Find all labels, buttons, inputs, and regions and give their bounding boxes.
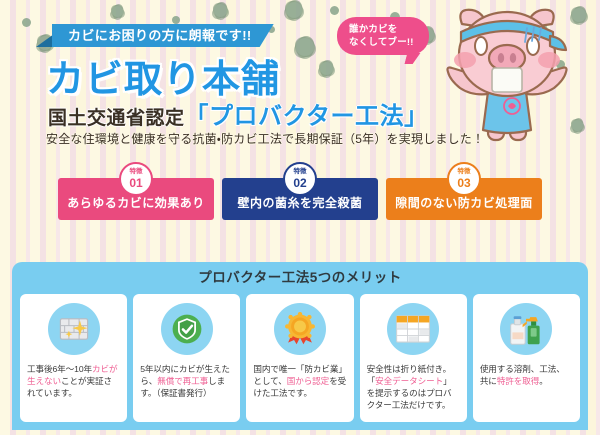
hero-subtitle: 国土交通省認定 「プロバクター工法」 [48, 96, 429, 131]
merit-card-text: 国内で唯一「防カビ業」として、国から認定を受けた工法です。 [253, 363, 346, 399]
ribbon-tail-decoration [36, 34, 54, 47]
merits-panel: プロバクター工法5つのメリット 工事後6年～10年カビが生えないことが実証されて… [12, 262, 588, 430]
feature-badges-row: 特徴 01 あらゆるカビに効果あり 特徴 02 壁内の菌糸を完全殺菌 特徴 03… [0, 168, 600, 230]
feature-badge-03: 特徴 03 [447, 162, 481, 196]
feature-label: 壁内の菌糸を完全殺菌 [237, 194, 362, 211]
feature-badge-02: 特徴 02 [283, 162, 317, 196]
feature-badge-number: 03 [457, 177, 470, 189]
shield-check-icon [161, 303, 213, 355]
merit-card[interactable]: 安全性は折り紙付き。「安全データシート」を提示するのはプロバクター工法だけです。 [360, 294, 467, 422]
feature-card-01[interactable]: 特徴 01 あらゆるカビに効果あり [58, 178, 214, 220]
feature-label: 隙間のない防カビ処理面 [395, 194, 533, 211]
data-sheet-icon [387, 303, 439, 355]
mold-spot [286, 2, 302, 18]
speech-bubble-line-1: 誰かカビを [349, 23, 429, 36]
merit-text-highlight: 無償で再工事 [157, 376, 208, 386]
feature-badge-kicker: 特徴 [294, 169, 307, 176]
subtitle-government-text: 国土交通省認定 [48, 103, 185, 130]
merit-card[interactable]: 5年以内にカビが生えたら、無償で再工事します。（保証書発行） [133, 294, 240, 422]
speech-bubble-line-2: なくしてブー!! [349, 36, 429, 49]
feature-label: あらゆるカビに効果あり [67, 194, 205, 211]
merits-heading: プロバクター工法5つのメリット [12, 262, 588, 294]
merit-card-text: 安全性は折り紙付き。「安全データシート」を提示するのはプロバクター工法だけです。 [367, 363, 460, 411]
mold-spot [112, 6, 123, 17]
mold-spot [172, 16, 180, 24]
merit-text-highlight: 安全データシート [375, 376, 443, 386]
mold-spot [22, 18, 31, 27]
feature-card-02[interactable]: 特徴 02 壁内の菌糸を完全殺菌 [222, 178, 378, 220]
merit-card[interactable]: 工事後6年～10年カビが生えないことが実証されています。 [20, 294, 127, 422]
merit-card-text: 使用する溶剤、工法、共に特許を取得。 [480, 363, 573, 387]
subtitle-method-text: 「プロバクター工法」 [185, 96, 429, 131]
feature-badge-kicker: 特徴 [130, 169, 143, 176]
spray-bottle-icon [500, 303, 552, 355]
page-root: カビにお困りの方に朗報です!! カビ取り本舗 国土交通省認定 「プロバクター工法… [0, 0, 600, 435]
feature-badge-01: 特徴 01 [119, 162, 153, 196]
merit-text-highlight: 国から認定 [287, 376, 329, 386]
pig-mascot [432, 2, 582, 160]
mold-spot [330, 6, 339, 15]
merit-card[interactable]: 国内で唯一「防カビ業」として、国から認定を受けた工法です。 [246, 294, 353, 422]
hero-lead-text: 安全な住環境と健康を守る抗菌・防カビ工法で長期保証（5年）を実現しました！ [46, 130, 484, 147]
mold-spot [214, 4, 227, 17]
feature-badge-number: 01 [129, 177, 142, 189]
merit-text-plain: 。 [539, 376, 548, 386]
merit-cards-row: 工事後6年～10年カビが生えないことが実証されています。 5年以内にカビが生えた… [12, 294, 588, 422]
merit-card[interactable]: 使用する溶剤、工法、共に特許を取得。 [473, 294, 580, 422]
feature-badge-number: 02 [293, 177, 306, 189]
hero-ribbon-banner: カビにお困りの方に朗報です!! [52, 24, 274, 47]
page-title: カビ取り本舗 [46, 48, 280, 103]
brick-wall-sparkle-icon [48, 303, 100, 355]
feature-badge-kicker: 特徴 [458, 169, 471, 176]
merit-text-highlight: 特許を取得 [497, 376, 539, 386]
award-medal-icon [274, 303, 326, 355]
merit-text-plain: 工事後6年～10年 [27, 364, 92, 374]
mascot-speech-bubble: 誰かカビを なくしてブー!! [337, 17, 429, 55]
feature-card-03[interactable]: 特徴 03 隙間のない防カビ処理面 [386, 178, 542, 220]
mold-spot [320, 62, 333, 75]
merit-card-text: 5年以内にカビが生えたら、無償で再工事します。（保証書発行） [140, 363, 233, 399]
mold-spot [296, 38, 314, 56]
merit-card-text: 工事後6年～10年カビが生えないことが実証されています。 [27, 363, 120, 399]
